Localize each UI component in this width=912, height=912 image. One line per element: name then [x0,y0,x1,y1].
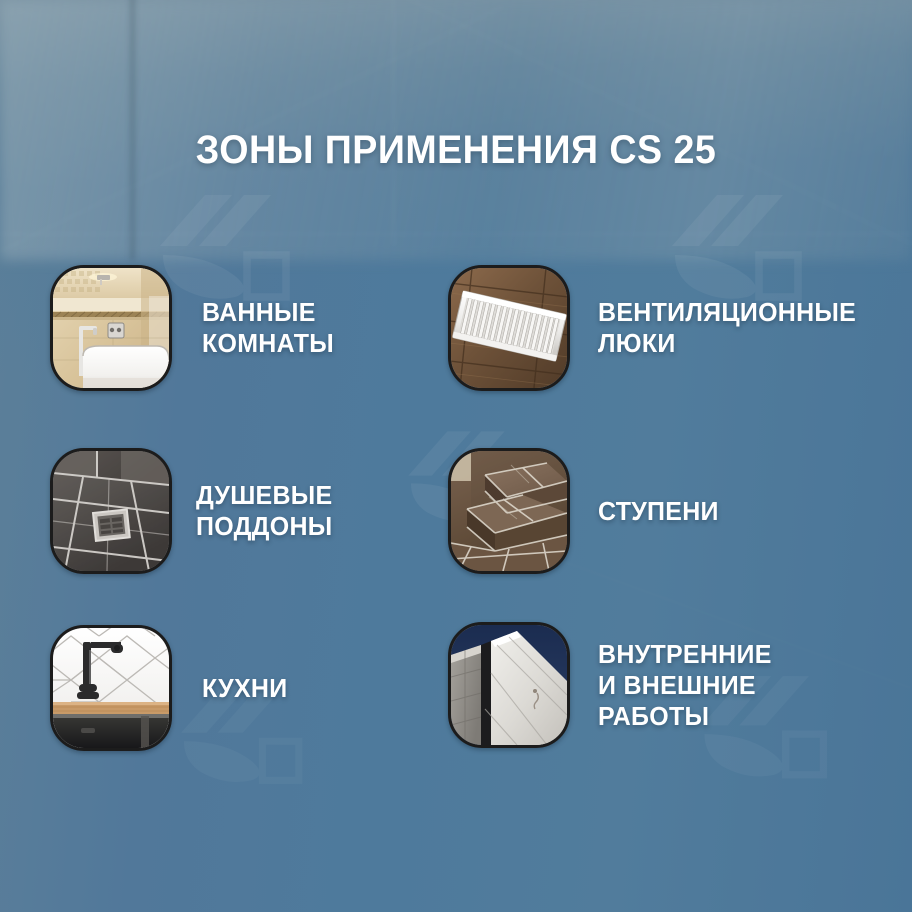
zone-label-ventilation-hatches: ВЕНТИЛЯЦИОННЫЕ ЛЮКИ [598,297,856,359]
ventilation-grille-photo-icon [448,265,570,391]
shower-tray-photo-icon [50,448,172,574]
application-zones-grid: ВАННЫЕ КОМНАТЫ [0,0,912,912]
zone-item-interior-exterior-works[interactable]: ВНУТРЕННИЕ И ВНЕШНИЕ РАБОТЫ [448,622,779,748]
zone-label-kitchens: КУХНИ [202,673,287,704]
zone-label-steps: СТУПЕНИ [598,496,719,527]
building-facade-photo-icon [448,622,570,748]
zone-label-bathrooms: ВАННЫЕ КОМНАТЫ [202,297,334,359]
tiled-steps-photo-icon [448,448,570,574]
zone-item-ventilation-hatches[interactable]: ВЕНТИЛЯЦИОННЫЕ ЛЮКИ [448,265,867,391]
zone-item-steps[interactable]: СТУПЕНИ [448,448,724,574]
zone-label-shower-trays: ДУШЕВЫЕ ПОДДОНЫ [196,480,332,542]
zone-item-bathrooms[interactable]: ВАННЫЕ КОМНАТЫ [50,265,339,391]
zone-label-interior-exterior-works: ВНУТРЕННИЕ И ВНЕШНИЕ РАБОТЫ [598,639,772,732]
kitchen-photo-icon [50,625,172,751]
poster-canvas: ЗОНЫ ПРИМЕНЕНИЯ CS 25 [0,0,912,912]
zone-item-kitchens[interactable]: КУХНИ [50,625,291,751]
zone-item-shower-trays[interactable]: ДУШЕВЫЕ ПОДДОНЫ [50,448,338,574]
bathroom-photo-icon [50,265,172,391]
